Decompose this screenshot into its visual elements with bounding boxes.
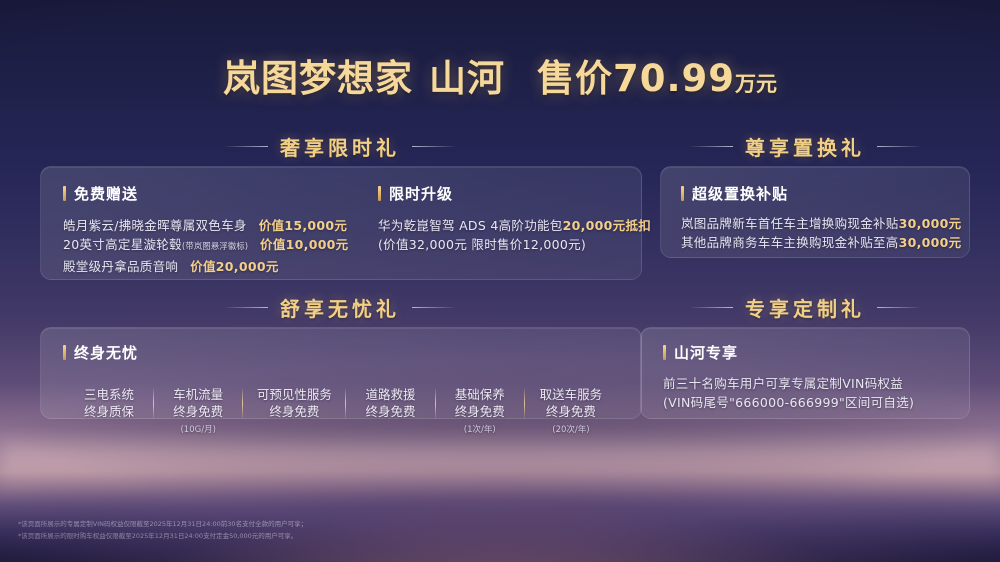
section-header-custom-label: 专享定制礼 — [745, 293, 865, 322]
service-item-benefit: 终身免费 — [353, 403, 429, 420]
gift-line-note: (带岚图悬浮徽标) — [182, 242, 248, 252]
header-rule-left — [226, 146, 268, 147]
upgrade-line-text: 华为乾崑智驾 ADS 4高阶功能包 — [378, 218, 563, 233]
custom-line: (VIN码尾号"666000-666999"区间可自选) — [663, 393, 914, 412]
service-divider — [153, 388, 154, 419]
title-model: 岚图梦想家 — [223, 57, 413, 100]
service-divider — [524, 388, 525, 419]
section-header-service: 舒享无忧礼 — [40, 293, 640, 322]
card-tradein: 超级置换补贴 岚图品牌新车首任车主增换购现金补贴30,000元 其他品牌商务车车… — [660, 166, 970, 258]
upgrade-line-text: (价值32,000元 限时售价12,000元) — [378, 237, 586, 252]
section-header-custom: 专享定制礼 — [640, 293, 970, 322]
header-rule-right — [412, 307, 454, 308]
block-lifetime-care: 终身无忧 — [63, 342, 138, 363]
service-item-note: (1次/年) — [442, 422, 518, 439]
service-item-name: 可预见性服务 — [249, 386, 339, 403]
service-divider — [435, 388, 436, 419]
section-header-tradein: 尊享置换礼 — [640, 132, 970, 161]
service-item-note: (10G/月) — [160, 422, 236, 439]
gift-line: 20英寸高定星漩轮毂(带岚图悬浮徽标)价值10,000元 — [63, 235, 348, 257]
block-tradein-subsidy: 超级置换补贴 岚图品牌新车首任车主增换购现金补贴30,000元 其他品牌商务车车… — [681, 183, 961, 252]
block-service-subtitle: 终身无忧 — [63, 342, 138, 363]
section-header-luxury-label: 奢享限时礼 — [280, 132, 400, 161]
service-item-benefit: 终身免费 — [249, 403, 339, 420]
tradein-line-text: 岚图品牌新车首任车主增换购现金补贴 — [681, 216, 899, 231]
promo-poster: 岚图梦想家山河售价70.99万元 奢享限时礼 免费赠送 皓月紫云/拂晓金晖尊属双… — [0, 0, 1000, 562]
service-item: 道路救援 终身免费 — [353, 386, 429, 422]
block-limited-upgrade-subtitle: 限时升级 — [378, 183, 651, 204]
service-item-name: 三电系统 — [71, 386, 147, 403]
header-rule-right — [877, 307, 919, 308]
card-custom: 山河专享 前三十名购车用户可享专属定制VIN码权益 (VIN码尾号"666000… — [640, 327, 970, 419]
footnote-1: *该页面所展示的专属定制VIN码权益仅限截至2025年12月31日24:00前3… — [18, 519, 307, 530]
service-item-name: 车机流量 — [160, 386, 236, 403]
service-divider — [242, 388, 243, 419]
section-header-service-label: 舒享无忧礼 — [280, 293, 400, 322]
service-item-name: 取送车服务 — [531, 386, 611, 403]
tradein-line: 其他品牌商务车车主换购现金补贴至高30,000元 — [681, 233, 961, 252]
service-item-benefit: 终身免费 — [531, 403, 611, 420]
tradein-line: 岚图品牌新车首任车主增换购现金补贴30,000元 — [681, 214, 961, 233]
service-item: 取送车服务 终身免费 (20次/年) — [531, 386, 611, 439]
block-free-gift: 免费赠送 皓月紫云/拂晓金晖尊属双色车身价值15,000元 20英寸高定星漩轮毂… — [63, 183, 348, 276]
service-item-benefit: 终身质保 — [71, 403, 147, 420]
service-item: 三电系统 终身质保 — [71, 386, 147, 422]
title-trim: 山河 — [429, 57, 505, 100]
service-item-name: 道路救援 — [353, 386, 429, 403]
tradein-line-text: 其他品牌商务车车主换购现金补贴至高 — [681, 235, 899, 250]
service-item-benefit: 终身免费 — [160, 403, 236, 420]
upgrade-line-amount: 20,000元抵扣 — [563, 218, 651, 233]
page-title: 岚图梦想家山河售价70.99万元 — [0, 48, 1000, 102]
card-service: 终身无忧 三电系统 终身质保 车机流量 终身免费 (10G/月) 可预见性服务 — [40, 327, 642, 419]
service-items-row: 三电系统 终身质保 车机流量 终身免费 (10G/月) 可预见性服务 终身免费 — [71, 386, 611, 439]
block-limited-upgrade: 限时升级 华为乾崑智驾 ADS 4高阶功能包20,000元抵扣 (价值32,00… — [378, 183, 651, 254]
section-header-luxury: 奢享限时礼 — [40, 132, 640, 161]
service-item: 基础保养 终身免费 (1次/年) — [442, 386, 518, 439]
gift-line-text: 殿堂级丹拿品质音响 — [63, 259, 178, 274]
tradein-line-amount: 30,000元 — [899, 216, 962, 231]
service-item: 车机流量 终身免费 (10G/月) — [160, 386, 236, 439]
service-divider — [345, 388, 346, 419]
gift-line-amount: 价值20,000元 — [190, 259, 278, 274]
custom-line-text: 前三十名购车用户可享专属定制VIN码权益 — [663, 376, 903, 391]
header-rule-right — [877, 146, 919, 147]
service-item-benefit: 终身免费 — [442, 403, 518, 420]
footnote-2: *该页面所展示的限时购车权益仅限截至2025年12月31日24:00支付定金50… — [18, 531, 297, 542]
gift-line-amount: 价值10,000元 — [260, 237, 348, 252]
title-price: 售价70.99 — [537, 57, 735, 100]
gift-line: 殿堂级丹拿品质音响价值20,000元 — [63, 257, 348, 276]
header-rule-left — [226, 307, 268, 308]
block-free-gift-subtitle: 免费赠送 — [63, 183, 348, 204]
service-item-name: 基础保养 — [442, 386, 518, 403]
card-luxury: 免费赠送 皓月紫云/拂晓金晖尊属双色车身价值15,000元 20英寸高定星漩轮毂… — [40, 166, 642, 280]
upgrade-line: (价值32,000元 限时售价12,000元) — [378, 235, 651, 254]
custom-line: 前三十名购车用户可享专属定制VIN码权益 — [663, 374, 914, 393]
section-header-tradein-label: 尊享置换礼 — [745, 132, 865, 161]
block-tradein-subtitle: 超级置换补贴 — [681, 183, 961, 204]
block-shanhe-exclusive: 山河专享 前三十名购车用户可享专属定制VIN码权益 (VIN码尾号"666000… — [663, 342, 914, 412]
title-price-unit: 万元 — [735, 72, 777, 96]
header-rule-right — [412, 146, 454, 147]
gift-line-text: 20英寸高定星漩轮毂 — [63, 237, 182, 252]
gift-line-amount: 价值15,000元 — [259, 218, 347, 233]
header-rule-left — [691, 146, 733, 147]
header-rule-left — [691, 307, 733, 308]
custom-line-text: (VIN码尾号"666000-666999"区间可自选) — [663, 395, 914, 410]
service-item: 可预见性服务 终身免费 — [249, 386, 339, 422]
gift-line: 皓月紫云/拂晓金晖尊属双色车身价值15,000元 — [63, 216, 348, 235]
tradein-line-amount: 30,000元 — [899, 235, 962, 250]
block-custom-subtitle: 山河专享 — [663, 342, 914, 363]
service-item-note: (20次/年) — [531, 422, 611, 439]
gift-line-text: 皓月紫云/拂晓金晖尊属双色车身 — [63, 218, 247, 233]
upgrade-line: 华为乾崑智驾 ADS 4高阶功能包20,000元抵扣 — [378, 216, 651, 235]
